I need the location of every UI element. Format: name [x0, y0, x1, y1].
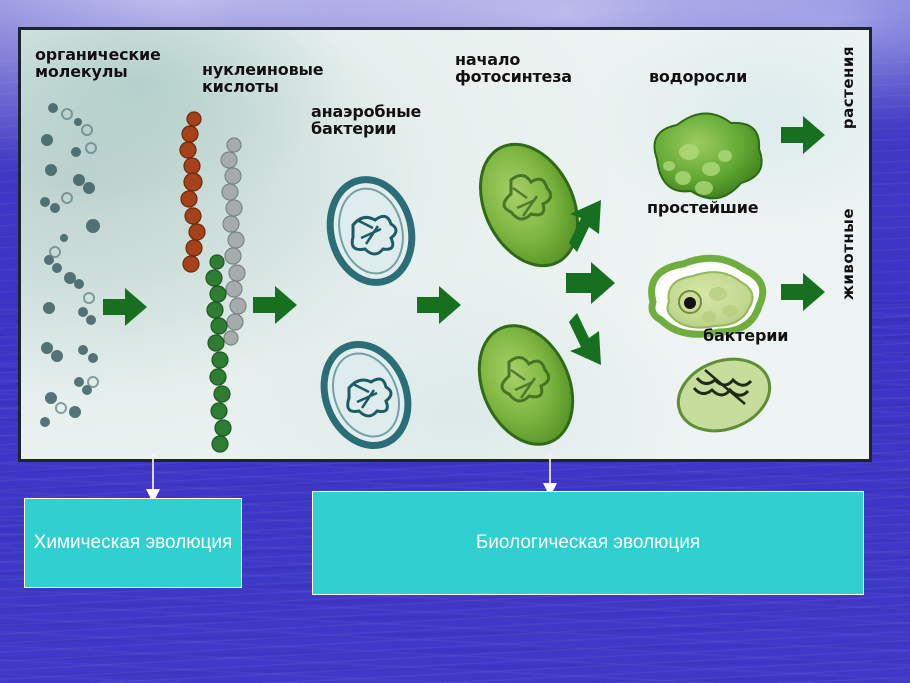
label-protozoa: простейшие — [647, 199, 758, 216]
slide-background: органические молекулы нуклеиновые кислот… — [0, 0, 910, 683]
side-label-animals: животные — [839, 208, 857, 300]
anaerobic-bacteria-cell-2 — [309, 332, 422, 458]
chain-gray — [221, 138, 246, 345]
callout-biological-evolution[interactable]: Биологическая эволюция — [312, 491, 864, 595]
chain-orange — [180, 112, 205, 272]
photosynthesis-cell-1 — [461, 128, 596, 282]
organic-molecules-dots — [40, 103, 100, 427]
arrow-1 — [103, 288, 147, 326]
evolution-figure-panel: органические молекулы нуклеиновые кислот… — [18, 27, 872, 462]
arrow-to-plants — [781, 116, 825, 154]
arrow-2 — [253, 286, 297, 324]
arrow-3 — [417, 286, 461, 324]
label-organic-molecules: органические молекулы — [35, 46, 161, 81]
side-label-plants: растения — [839, 46, 857, 129]
anaerobic-bacteria-cell-1 — [320, 171, 423, 291]
protozoa-cell — [652, 258, 763, 334]
label-photosynthesis: начало фотосинтеза — [455, 51, 572, 86]
figure-illustration — [21, 30, 869, 459]
callout-chemical-evolution[interactable]: Химическая эволюция — [24, 498, 242, 588]
label-bacteria: бактерии — [703, 327, 788, 344]
algae-cell — [655, 113, 762, 198]
photosynthesis-cell-2 — [461, 311, 590, 459]
label-algae: водоросли — [649, 68, 747, 85]
label-anaerobic-bacteria: анаэробные бактерии — [311, 103, 421, 138]
bacteria-cell — [668, 347, 780, 443]
callout-biological-evolution-label: Биологическая эволюция — [476, 528, 700, 557]
callout-chemical-evolution-label: Химическая эволюция — [34, 528, 233, 557]
arrow-to-animals — [781, 273, 825, 311]
label-nucleic-acids: нуклеиновые кислоты — [202, 61, 323, 96]
